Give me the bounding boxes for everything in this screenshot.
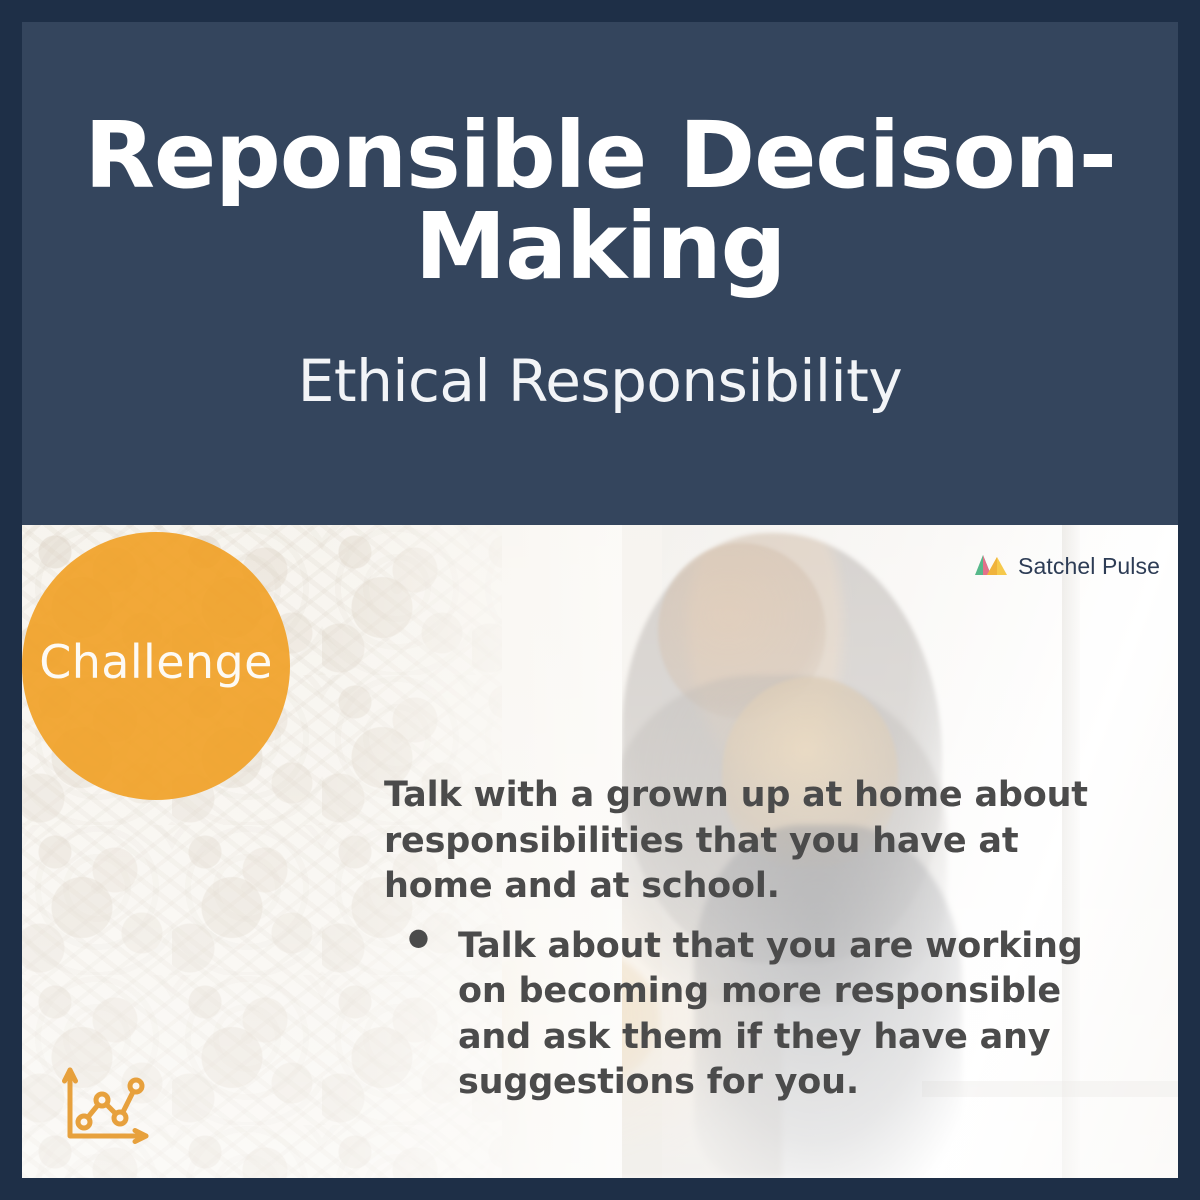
page-title: Reponsible Decison-Making [75,110,1125,292]
poster-inner: Reponsible Decison-Making Ethical Respon… [22,22,1178,1178]
page-subtitle: Ethical Responsibility [298,352,902,411]
photo-panel: Challenge Satchel Pulse Talk with a grow… [22,525,1178,1178]
challenge-badge: Challenge [22,532,290,800]
challenge-content: Talk with a grown up at home about respo… [384,773,1124,1106]
brand-name: Satchel Pulse [1018,553,1160,580]
line-chart-icon [58,1064,154,1150]
challenge-badge-label: Challenge [39,635,273,689]
poster-card: Reponsible Decison-Making Ethical Respon… [0,0,1200,1200]
challenge-bullet-list: Talk about that you are working on becom… [384,924,1124,1106]
list-item: Talk about that you are working on becom… [384,924,1124,1106]
poster-header: Reponsible Decison-Making Ethical Respon… [22,22,1178,525]
challenge-lead-text: Talk with a grown up at home about respo… [384,773,1124,910]
mountains-icon [974,554,1008,580]
brand-logo: Satchel Pulse [974,553,1160,580]
